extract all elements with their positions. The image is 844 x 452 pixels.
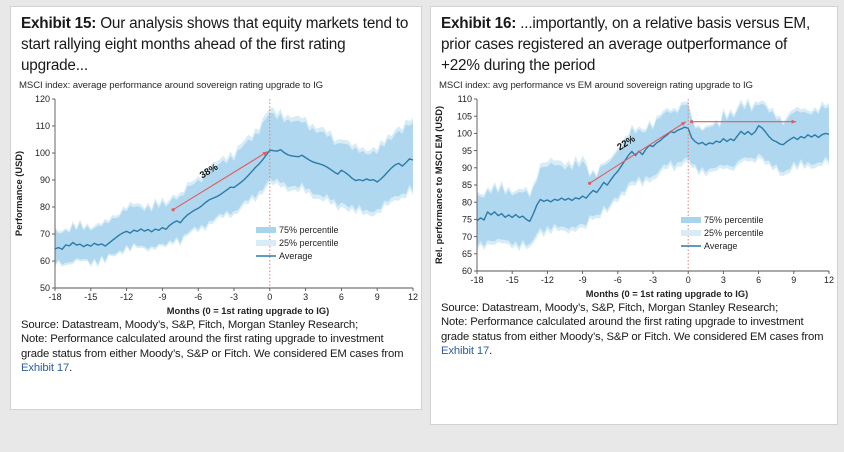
exhibit-16-title-lead: Exhibit 16: [441, 15, 516, 32]
exhibit-15-source-line2: Note: Performance calculated around the … [21, 333, 403, 359]
chart-exhibit-15-x-tick-label: 9 [375, 292, 380, 302]
chart-exhibit-15-annotation-start-dot [172, 208, 175, 211]
exhibit-16-chart-subtitle: MSCI index: avg performance vs EM around… [431, 78, 837, 91]
report-page: Exhibit 15: Our analysis shows that equi… [0, 0, 844, 452]
exhibit-15-source-end: . [69, 362, 72, 374]
chart-exhibit-16-x-tick-label: -15 [506, 275, 519, 285]
chart-exhibit-16-x-tick-label: 3 [721, 275, 726, 285]
chart-exhibit-16-legend-label: 75% percentile [704, 215, 764, 225]
exhibit-15-source: Source: Datastream, Moody’s, S&P, Fitch,… [11, 316, 421, 382]
exhibit-16-source-line1: Source: Datastream, Moody’s, S&P, Fitch,… [441, 302, 778, 314]
chart-exhibit-16-x-tick-label: 12 [824, 275, 834, 285]
chart-exhibit-15-x-tick-label: 3 [303, 292, 308, 302]
chart-exhibit-16-x-tick-label: 0 [686, 275, 691, 285]
chart-exhibit-15-y-tick-label: 60 [40, 256, 50, 266]
chart-exhibit-15-x-tick-label: -18 [48, 292, 61, 302]
chart-exhibit-16-y-tick-label: 65 [462, 249, 472, 259]
chart-exhibit-16-y-tick-label: 110 [458, 94, 472, 104]
chart-exhibit-15-x-tick-label: -9 [158, 292, 166, 302]
chart-exhibit-15-y-tick-label: 100 [35, 148, 50, 158]
chart-exhibit-16-y-tick-label: 75 [462, 215, 472, 225]
exhibit-15-title-lead: Exhibit 15: [21, 15, 96, 32]
chart-exhibit-15-legend-swatch [256, 240, 276, 246]
chart-exhibit-15-y-tick-label: 110 [36, 121, 50, 131]
chart-exhibit-15-legend-label: Average [279, 251, 312, 261]
chart-exhibit-16-y-tick-label: 80 [462, 197, 472, 207]
chart-exhibit-16-x-tick-label: -6 [614, 275, 622, 285]
chart-exhibit-16-x-axis-label: Months (0 = 1st rating upgrade to IG) [586, 289, 748, 299]
exhibit-16-title: Exhibit 16: ...importantly, on a relativ… [431, 7, 837, 78]
chart-exhibit-15-y-tick-label: 70 [40, 229, 50, 239]
exhibit-16-chart-svg: 6065707580859095100105110-18-15-12-9-6-3… [431, 91, 837, 299]
chart-exhibit-15-x-tick-label: -12 [120, 292, 133, 302]
exhibit-16-chart: 6065707580859095100105110-18-15-12-9-6-3… [431, 91, 837, 299]
chart-exhibit-16-legend-swatch [681, 217, 701, 223]
exhibit-17-link[interactable]: Exhibit 17 [441, 345, 489, 357]
chart-exhibit-15-y-axis-label: Performance (USD) [14, 151, 24, 236]
chart-exhibit-16-y-axis-label: Rel. performance to MSCI EM (USD) [434, 106, 444, 264]
chart-exhibit-15-x-tick-label: 6 [339, 292, 344, 302]
chart-exhibit-15-x-tick-label: 0 [267, 292, 272, 302]
exhibit-15-source-line1: Source: Datastream, Moody’s, S&P, Fitch,… [21, 319, 358, 331]
chart-exhibit-15-x-tick-label: -15 [84, 292, 97, 302]
chart-exhibit-15-x-axis-label: Months (0 = 1st rating upgrade to IG) [167, 306, 329, 316]
chart-exhibit-16-annotation-start-dot [690, 120, 693, 123]
chart-exhibit-16-y-tick-label: 95 [462, 146, 472, 156]
chart-exhibit-16-y-tick-label: 85 [462, 180, 472, 190]
exhibit-16-source-line2: Note: Performance calculated around the … [441, 316, 823, 342]
chart-exhibit-15-legend-label: 25% percentile [279, 238, 339, 248]
chart-exhibit-16-annotation-start-dot [588, 182, 591, 185]
chart-exhibit-15-legend-swatch [256, 227, 276, 233]
chart-exhibit-15-band-75 [55, 113, 413, 265]
chart-exhibit-16-x-tick-label: 6 [756, 275, 761, 285]
chart-exhibit-16-plot: 6065707580859095100105110-18-15-12-9-6-3… [434, 94, 834, 299]
chart-exhibit-16-x-tick-label: -12 [541, 275, 554, 285]
exhibit-16-source: Source: Datastream, Moody’s, S&P, Fitch,… [431, 299, 837, 365]
chart-exhibit-16-legend-label: 25% percentile [704, 228, 764, 238]
chart-exhibit-16-x-tick-label: -3 [649, 275, 657, 285]
chart-exhibit-16-y-tick-label: 105 [457, 111, 472, 121]
chart-exhibit-15-y-tick-label: 80 [40, 202, 50, 212]
chart-exhibit-16-y-tick-label: 100 [457, 129, 472, 139]
chart-exhibit-16-x-tick-label: 9 [791, 275, 796, 285]
exhibit-16-source-end: . [489, 345, 492, 357]
exhibit-15-chart: 5060708090100110120-18-15-12-9-6-3036912… [11, 91, 421, 316]
exhibit-15-chart-svg: 5060708090100110120-18-15-12-9-6-3036912… [11, 91, 421, 316]
chart-exhibit-15-y-tick-label: 120 [35, 94, 50, 104]
exhibit-16-panel: Exhibit 16: ...importantly, on a relativ… [430, 6, 838, 425]
chart-exhibit-16-band-75 [477, 102, 829, 247]
exhibit-15-title: Exhibit 15: Our analysis shows that equi… [11, 7, 421, 78]
exhibit-15-panel: Exhibit 15: Our analysis shows that equi… [10, 6, 422, 410]
chart-exhibit-15-y-tick-label: 90 [40, 175, 50, 185]
chart-exhibit-16-x-tick-label: -18 [470, 275, 483, 285]
chart-exhibit-16-y-tick-label: 90 [462, 163, 472, 173]
chart-exhibit-16-legend-label: Average [704, 241, 737, 251]
chart-exhibit-15-x-tick-label: 12 [408, 292, 418, 302]
exhibit-17-link[interactable]: Exhibit 17 [21, 362, 69, 374]
exhibit-15-chart-subtitle: MSCI index: average performance around s… [11, 78, 421, 91]
chart-exhibit-15-x-tick-label: -6 [194, 292, 202, 302]
chart-exhibit-15-x-tick-label: -3 [230, 292, 238, 302]
chart-exhibit-16-x-tick-label: -9 [579, 275, 587, 285]
chart-exhibit-16-y-tick-label: 70 [462, 232, 472, 242]
chart-exhibit-15-legend-label: 75% percentile [279, 225, 339, 235]
chart-exhibit-15-plot: 5060708090100110120-18-15-12-9-6-3036912… [14, 94, 418, 316]
chart-exhibit-16-legend-swatch [681, 230, 701, 236]
